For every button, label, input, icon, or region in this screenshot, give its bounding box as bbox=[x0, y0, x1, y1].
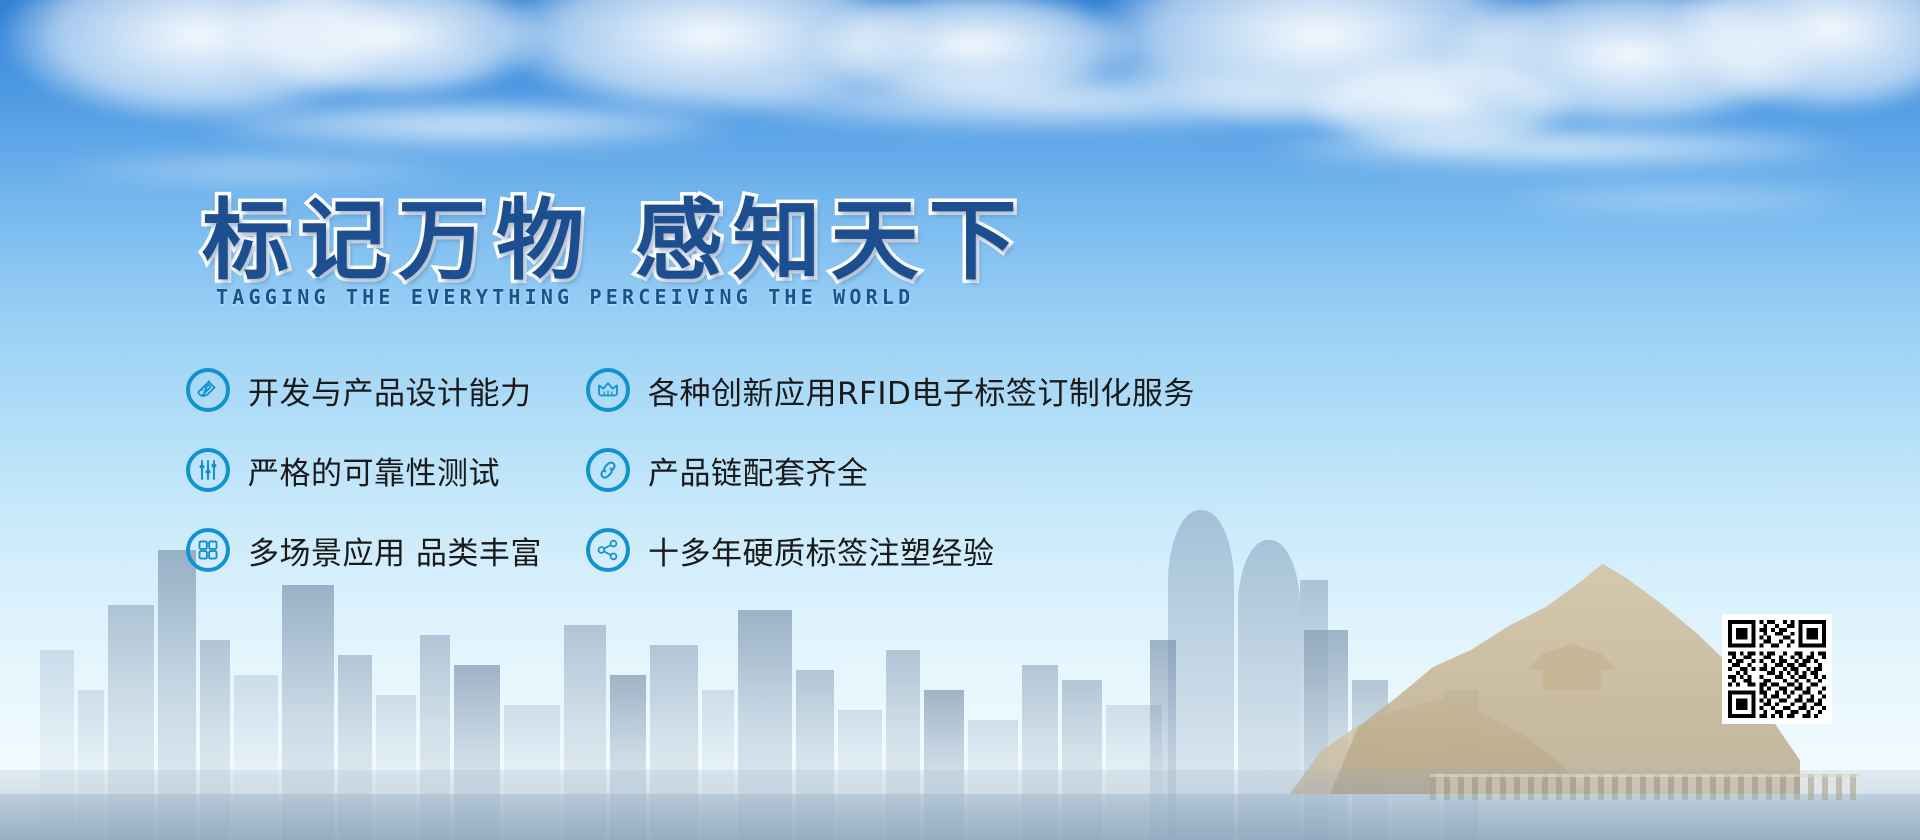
feature-label: 开发与产品设计能力 bbox=[248, 368, 532, 413]
feature-row: 开发与产品设计能力 各种创新应用RFID电子标签订制化服务 bbox=[186, 350, 1195, 430]
feature-row: 严格的可靠性测试 产品链配套齐全 bbox=[186, 430, 1195, 510]
grid-squares-icon bbox=[186, 528, 230, 572]
feature-label: 多场景应用 品类丰富 bbox=[248, 528, 542, 573]
feature-item-design[interactable]: 开发与产品设计能力 bbox=[186, 368, 586, 413]
sliders-equalizer-icon bbox=[186, 448, 230, 492]
feature-label: 产品链配套齐全 bbox=[648, 448, 869, 493]
promo-banner: 标记万物 感知天下 TAGGING THE EVERYTHING PERCEIV… bbox=[0, 0, 1920, 840]
crown-icon bbox=[586, 368, 630, 412]
feature-label: 各种创新应用RFID电子标签订制化服务 bbox=[648, 368, 1195, 413]
feature-item-multi-scenario[interactable]: 多场景应用 品类丰富 bbox=[186, 528, 586, 573]
share-network-icon bbox=[586, 528, 630, 572]
feature-item-reliability-test[interactable]: 严格的可靠性测试 bbox=[186, 448, 586, 493]
qr-code-image bbox=[1728, 620, 1826, 718]
feature-list: 开发与产品设计能力 各种创新应用RFID电子标签订制化服务 bbox=[186, 350, 1195, 590]
link-chain-icon bbox=[586, 448, 630, 492]
feature-row: 多场景应用 品类丰富 十多年硬质标签注塑经验 bbox=[186, 510, 1195, 590]
feature-label: 十多年硬质标签注塑经验 bbox=[648, 528, 995, 573]
qr-code[interactable] bbox=[1722, 614, 1832, 724]
feature-item-supply-chain[interactable]: 产品链配套齐全 bbox=[586, 448, 869, 493]
feature-label: 严格的可靠性测试 bbox=[248, 448, 500, 493]
headline: 标记万物 感知天下 bbox=[202, 170, 1027, 297]
feature-item-rfid-custom[interactable]: 各种创新应用RFID电子标签订制化服务 bbox=[586, 368, 1195, 413]
subheadline: TAGGING THE EVERYTHING PERCEIVING THE WO… bbox=[216, 285, 914, 309]
design-pencil-ruler-icon bbox=[186, 368, 230, 412]
feature-item-experience[interactable]: 十多年硬质标签注塑经验 bbox=[586, 528, 995, 573]
